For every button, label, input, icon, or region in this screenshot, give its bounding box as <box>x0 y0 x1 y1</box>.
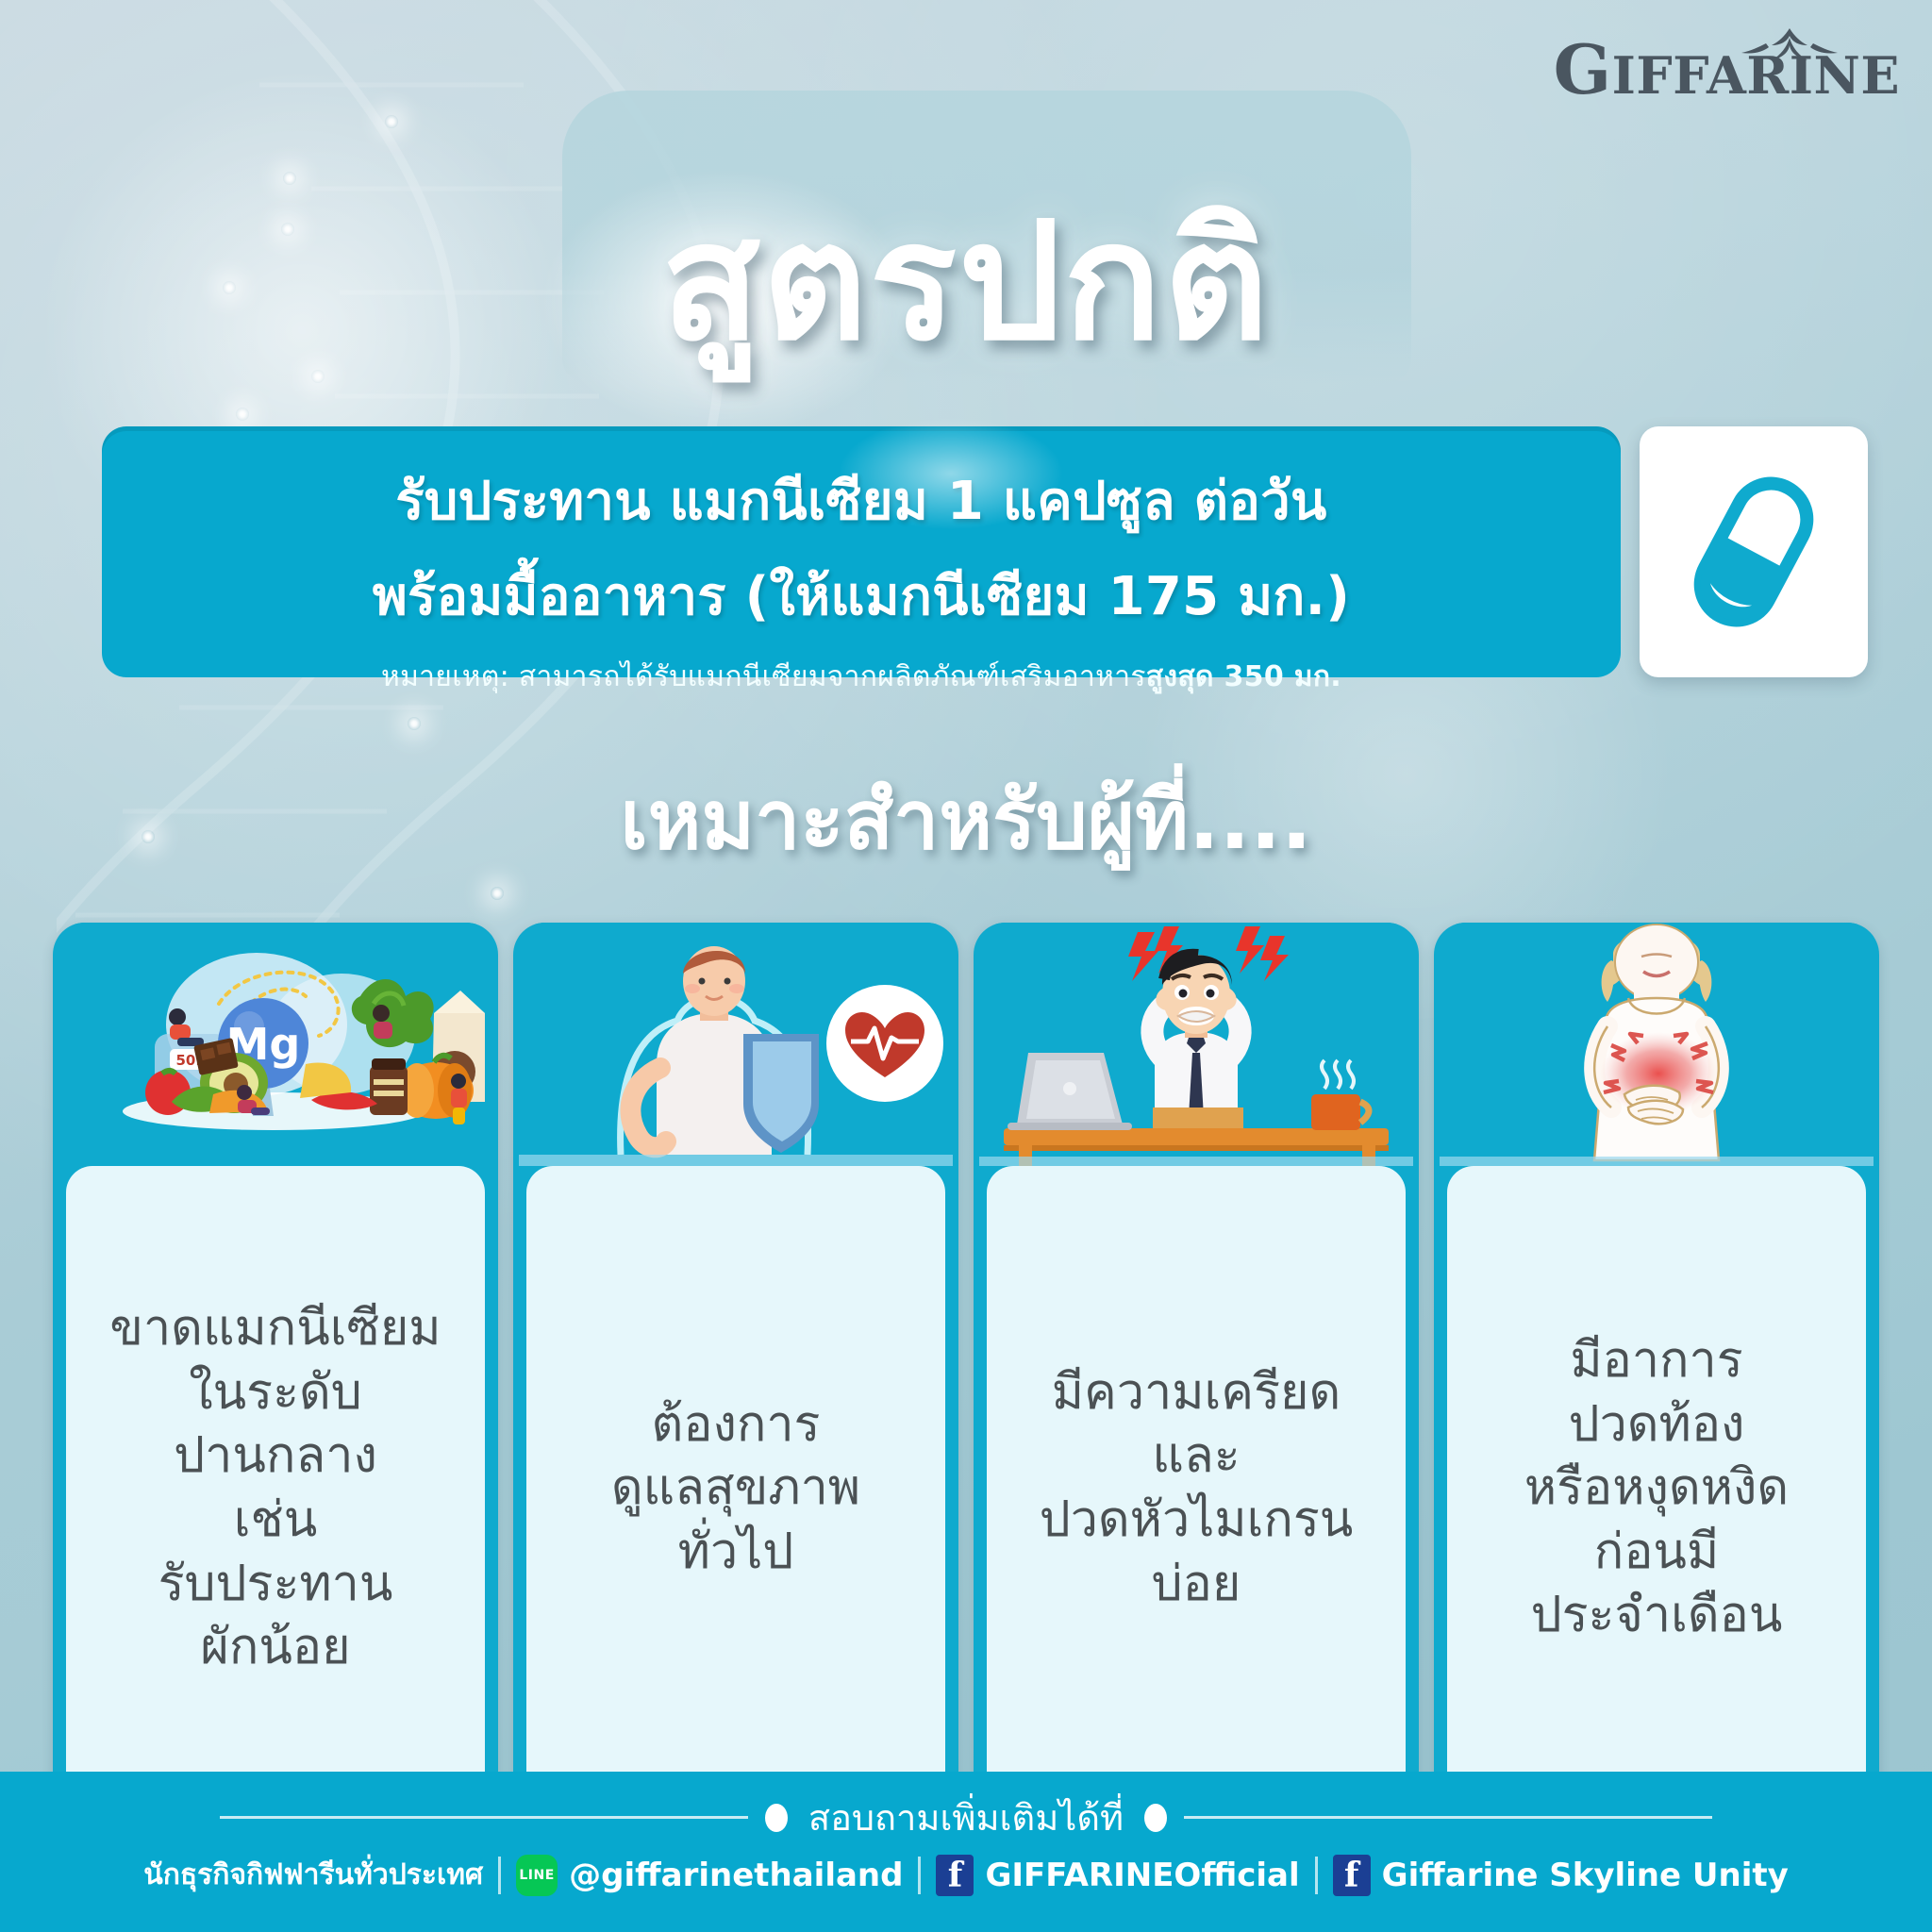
magnesium-foods-illustration-icon: 50.0 Mg <box>53 923 498 1166</box>
card-text-panel: มีความเครียด และ ปวดหัวไมเกรน บ่อย <box>987 1166 1406 1811</box>
card-text-line: ปวดหัวไมเกรน <box>1040 1489 1354 1553</box>
footer-facebook-official[interactable]: f GIFFARINEOfficial <box>936 1855 1299 1896</box>
benefit-cards: 50.0 Mg <box>53 923 1879 1821</box>
capsule-icon <box>1683 462 1824 641</box>
card-text-line: ประจำเดือน <box>1524 1584 1789 1648</box>
card-text: ขาดแมกนีเซียม ในระดับ ปานกลาง เช่น รับปร… <box>109 1297 441 1680</box>
dosage-note-prefix: หมายเหตุ: สามารถได้รับแมกนีเซียมจากผลิตภ… <box>381 660 1146 693</box>
logo-first-letter: G <box>1554 29 1612 109</box>
giffarine-logo: GIFFARINE <box>1554 36 1900 104</box>
man-with-shield-heart-illustration-icon <box>513 923 958 1166</box>
card-stress-migraine[interactable]: มีความเครียด และ ปวดหัวไมเกรน บ่อย <box>974 923 1419 1821</box>
card-menstrual-pain[interactable]: มีอาการ ปวดท้อง หรือหงุดหงิด ก่อนมี ประจ… <box>1434 923 1879 1821</box>
logo-wordmark: GIFFARINE <box>1554 36 1900 104</box>
sparkle-dot <box>491 887 504 900</box>
card-text-line: ดูแลสุขภาพ <box>611 1457 860 1521</box>
card-text-line: มีความเครียด <box>1040 1361 1354 1425</box>
stressed-office-worker-illustration-icon <box>974 923 1419 1166</box>
dosage-note-highlight: สูงสุด 350 มก. <box>1146 660 1341 693</box>
capsule-icon-card <box>1640 426 1868 677</box>
page-title: สูตรปกติ <box>0 151 1932 409</box>
footer-dot-left <box>765 1804 788 1832</box>
card-text: มีความเครียด และ ปวดหัวไมเกรน บ่อย <box>1040 1361 1354 1616</box>
card-text-line: ก่อนมี <box>1524 1521 1789 1585</box>
card-text-line: ปวดท้อง <box>1524 1393 1789 1457</box>
footer-divider-row: สอบถามเพิ่มเติมได้ที่ <box>0 1789 1932 1846</box>
footer-dot-right <box>1144 1804 1167 1832</box>
dosage-box: รับประทาน แมกนีเซียม 1 แคปซูล ต่อวัน พร้… <box>102 426 1621 677</box>
sparkle-dot <box>385 115 398 128</box>
card-general-health[interactable]: ต้องการ ดูแลสุขภาพ ทั่วไป <box>513 923 958 1821</box>
footer-line-contact[interactable]: LINE @giffarinethailand <box>516 1855 903 1896</box>
facebook-icon: f <box>936 1855 974 1896</box>
section-heading: เหมาะสำหรับผู้ที่.... <box>0 755 1932 884</box>
card-illustration-area <box>974 923 1419 1166</box>
dosage-note: หมายเหตุ: สามารถได้รับแมกนีเซียมจากผลิตภ… <box>102 655 1621 699</box>
facebook-icon: f <box>1333 1855 1371 1896</box>
card-text-line: ในระดับ <box>109 1361 441 1425</box>
card-text-line: มีอาการ <box>1524 1329 1789 1393</box>
card-text-line: ผักน้อย <box>109 1616 441 1680</box>
footer-rule-left <box>220 1816 748 1819</box>
footer-line-id: @giffarinethailand <box>569 1857 903 1894</box>
footer-separator <box>1315 1857 1318 1894</box>
footer-separator <box>918 1857 921 1894</box>
card-text-panel: มีอาการ ปวดท้อง หรือหงุดหงิด ก่อนมี ประจ… <box>1447 1166 1866 1811</box>
card-text: ต้องการ ดูแลสุขภาพ ทั่วไป <box>611 1393 860 1585</box>
footer-rule-right <box>1184 1816 1712 1819</box>
dosage-line-2: พร้อมมื้ออาหาร (ให้แมกนีเซียม 175 มก.) <box>102 554 1621 638</box>
footer-facebook-skyline[interactable]: f Giffarine Skyline Unity <box>1333 1855 1789 1896</box>
footer-distributors: นักธุรกิจกิฟฟารีนทั่วประเทศ <box>143 1853 483 1897</box>
line-icon: LINE <box>516 1855 558 1896</box>
card-text-panel: ต้องการ ดูแลสุขภาพ ทั่วไป <box>526 1166 945 1811</box>
card-text-line: หรือหงุดหงิด <box>1524 1457 1789 1521</box>
crown-ornament-icon <box>1738 23 1841 66</box>
card-illustration-area: 50.0 Mg <box>53 923 498 1166</box>
sparkle-dot <box>236 408 249 421</box>
card-text: มีอาการ ปวดท้อง หรือหงุดหงิด ก่อนมี ประจ… <box>1524 1329 1789 1648</box>
footer-facebook-page-1: GIFFARINEOfficial <box>985 1857 1299 1894</box>
card-text-line: ทั่วไป <box>611 1521 860 1585</box>
footer-contact-row: นักธุรกิจกิฟฟารีนทั่วประเทศ LINE @giffar… <box>0 1853 1932 1897</box>
footer: สอบถามเพิ่มเติมได้ที่ นักธุรกิจกิฟฟารีนท… <box>0 1772 1932 1932</box>
dosage-box-shine <box>838 417 1064 530</box>
card-illustration-area <box>1434 923 1879 1166</box>
card-text-line: บ่อย <box>1040 1553 1354 1617</box>
card-text-line: ขาดแมกนีเซียม <box>109 1297 441 1361</box>
footer-separator <box>498 1857 501 1894</box>
card-text-panel: ขาดแมกนีเซียม ในระดับ ปานกลาง เช่น รับปร… <box>66 1166 485 1811</box>
card-illustration-area <box>513 923 958 1166</box>
card-text-line: รับประทาน <box>109 1553 441 1617</box>
card-magnesium-deficiency[interactable]: 50.0 Mg <box>53 923 498 1821</box>
woman-abdominal-pain-illustration-icon <box>1434 923 1879 1166</box>
card-text-line: ปานกลาง <box>109 1424 441 1489</box>
footer-facebook-page-2: Giffarine Skyline Unity <box>1382 1857 1789 1894</box>
card-text-line: และ <box>1040 1424 1354 1489</box>
card-text-line: ต้องการ <box>611 1393 860 1457</box>
footer-ask-label: สอบถามเพิ่มเติมได้ที่ <box>805 1789 1127 1846</box>
card-text-line: เช่น <box>109 1489 441 1553</box>
sparkle-dot <box>408 717 421 730</box>
